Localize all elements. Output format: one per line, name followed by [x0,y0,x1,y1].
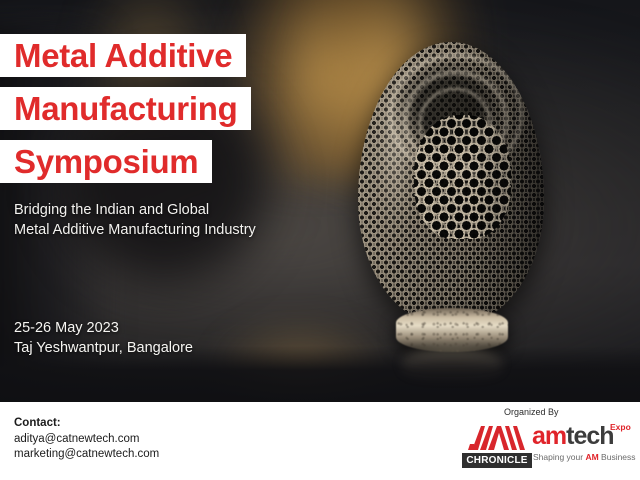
contact-block: Contact: aditya@catnewtech.com marketing… [14,416,159,462]
page-title: Metal Additive Manufacturing Symposium [0,34,251,183]
amtech-tagline-prefix: Shaping your [533,452,585,462]
event-details: 25-26 May 2023 Taj Yeshwantpur, Bangalor… [14,318,193,358]
base-texture [396,308,508,352]
egg-base-ring [396,308,508,352]
amtech-tagline: Shaping your AM Business [533,452,636,462]
footer-bar: Contact: aditya@catnewtech.com marketing… [0,402,640,480]
lattice-egg-object [352,42,556,372]
am-chronicle-logo: CHRONICLE [462,422,532,470]
egg-shell [358,42,544,324]
amtech-expo-superscript: Expo [610,422,631,432]
contact-label: Contact: [14,416,159,431]
amtech-expo-logo: amtech Expo Shaping your AM Business [532,421,630,471]
title-line-1: Metal Additive [0,34,246,77]
am-chronicle-wordmark: CHRONICLE [466,455,527,466]
amtech-word-tech: tech [566,422,613,450]
amtech-word-am: am [532,422,566,450]
title-line-3: Symposium [0,140,212,183]
subtitle: Bridging the Indian and Global Metal Add… [14,200,256,240]
egg-shadow-side [473,48,544,319]
event-date: 25-26 May 2023 [14,318,193,338]
event-poster: Metal Additive Manufacturing Symposium B… [0,0,640,480]
contact-email-1[interactable]: aditya@catnewtech.com [14,432,159,447]
organized-by-label: Organized By [504,407,559,417]
event-venue: Taj Yeshwantpur, Bangalore [14,338,193,358]
amtech-tagline-highlight: AM [585,452,598,462]
am-chronicle-mark-icon [468,422,526,450]
organizers-block: Organized By CHRONICLE amtech Expo [456,407,632,477]
base-reflection [402,348,502,382]
contact-email-2[interactable]: marketing@catnewtech.com [14,447,159,462]
amtech-wordmark: amtech [532,423,614,449]
title-line-2: Manufacturing [0,87,251,130]
amtech-tagline-suffix: Business [599,452,636,462]
am-chronicle-wordmark-bar: CHRONICLE [462,453,532,468]
egg-specular-highlight [358,65,414,285]
